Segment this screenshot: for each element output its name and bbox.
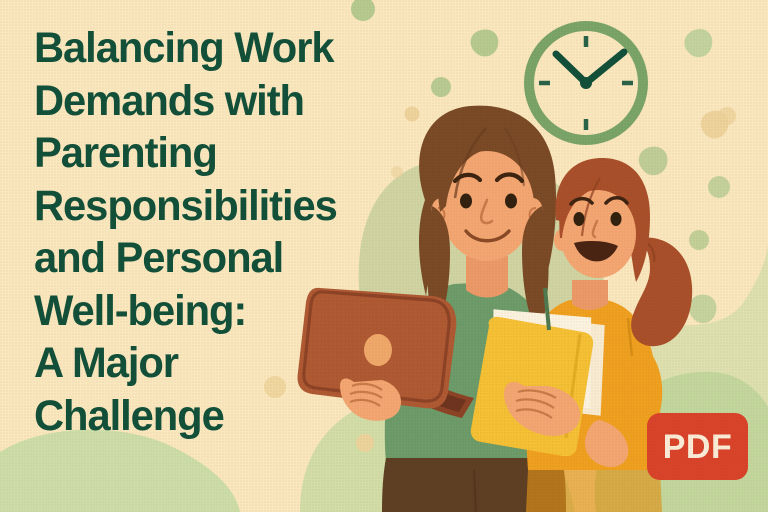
dot-tan-3 bbox=[356, 434, 374, 452]
child-eye-left bbox=[574, 212, 585, 226]
dot-tan-4 bbox=[264, 376, 286, 398]
pdf-cover-page: Balancing Work Demands with Parenting Re… bbox=[0, 0, 768, 512]
dot-green-5 bbox=[689, 230, 709, 250]
dot-green-2 bbox=[431, 77, 451, 97]
wall-clock bbox=[529, 26, 643, 140]
mother-eye-left bbox=[460, 194, 472, 209]
dot-tan-2 bbox=[718, 107, 736, 125]
child-eye-right bbox=[611, 212, 622, 226]
dot-green-4 bbox=[708, 176, 730, 198]
laptop-logo bbox=[364, 334, 392, 366]
dot-tan-5 bbox=[391, 166, 403, 178]
child-shirt-hem bbox=[526, 470, 662, 512]
mother-neck bbox=[466, 256, 508, 298]
pdf-badge[interactable]: PDF bbox=[647, 413, 748, 480]
clock-center-pin bbox=[580, 77, 592, 89]
mother-eye-right bbox=[505, 194, 517, 209]
child-neck bbox=[572, 280, 608, 310]
dot-tan-1 bbox=[405, 107, 420, 122]
pdf-badge-label: PDF bbox=[663, 430, 733, 464]
